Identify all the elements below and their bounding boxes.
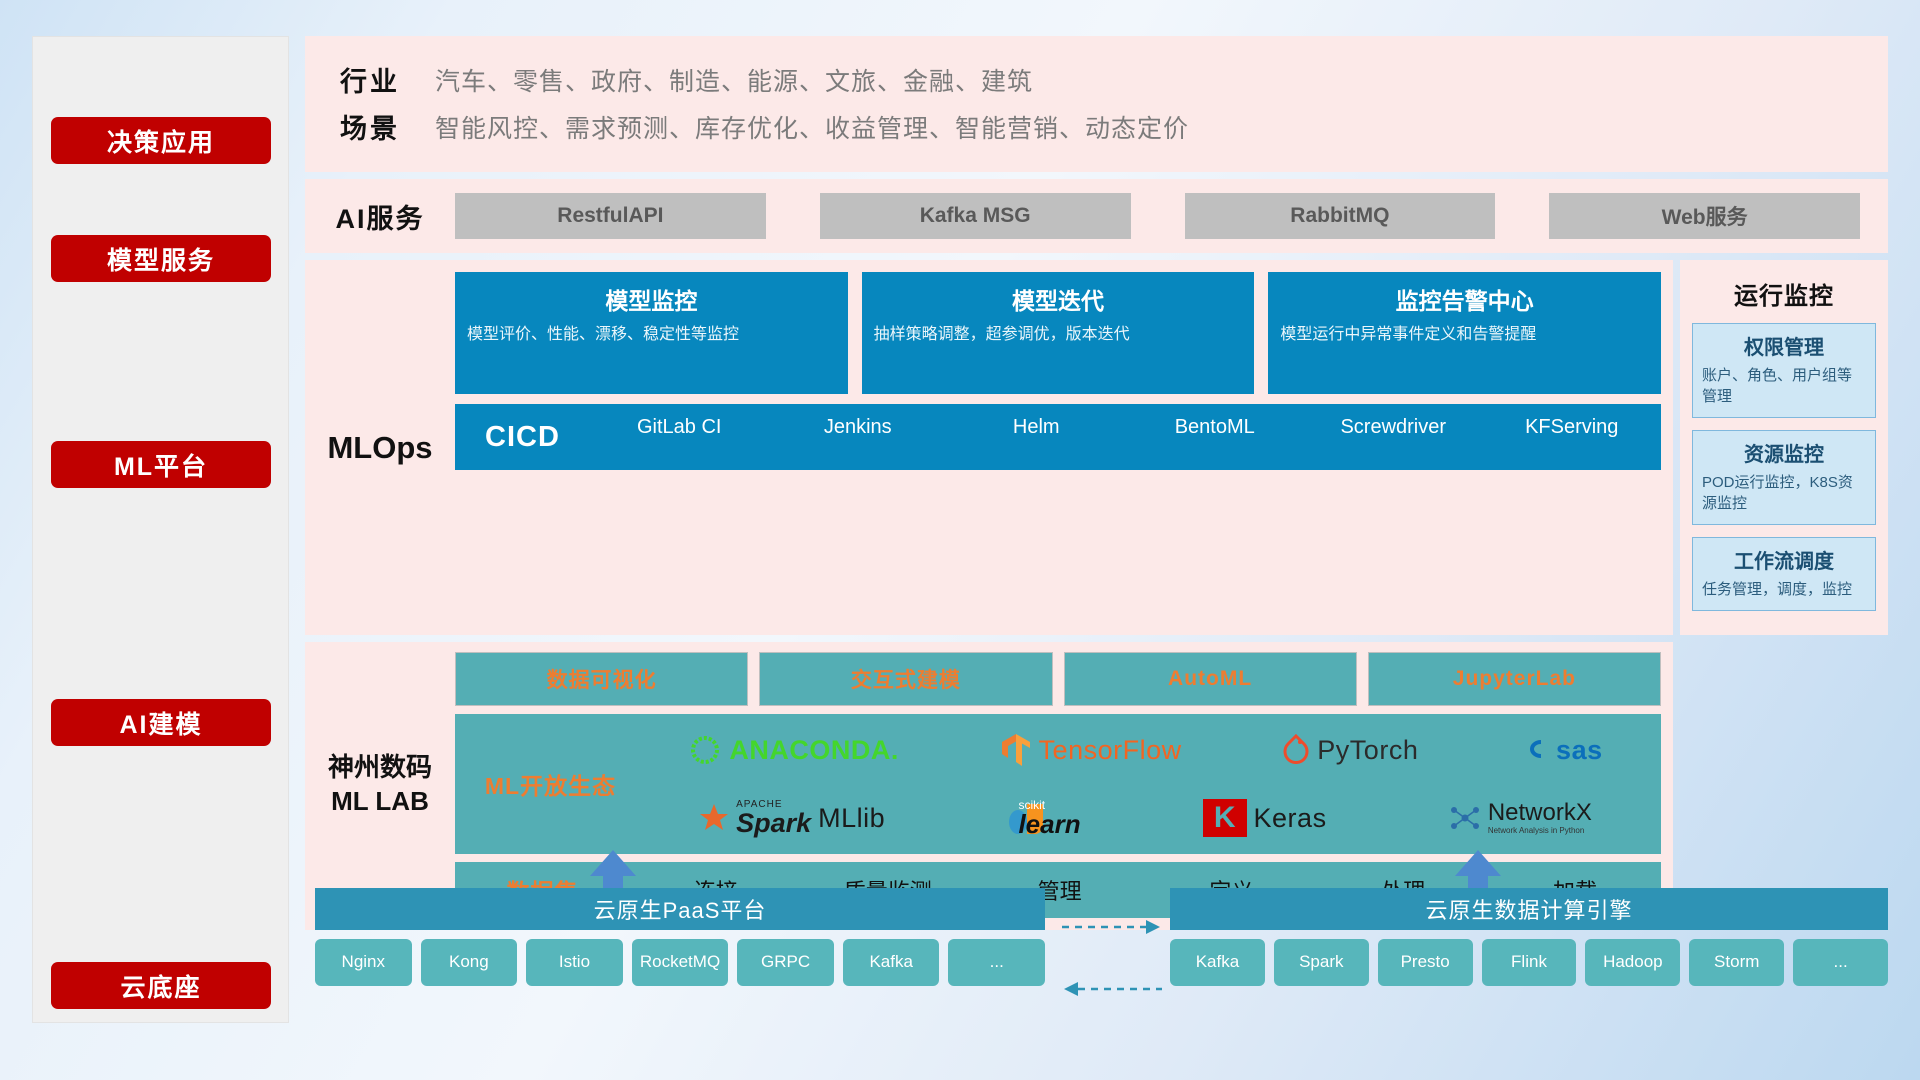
data-engine-chip-list: Kafka Spark Presto Flink Hadoop Storm ..… <box>1170 939 1888 986</box>
scenario-row: 场景 智能风控、需求预测、库存优化、收益管理、智能营销、动态定价 <box>305 107 1888 146</box>
ml-lab-tool-jupyterlab[interactable]: JupyterLab <box>1368 652 1661 706</box>
networkx-logo: NetworkX Network Analysis in Python <box>1449 800 1592 835</box>
cloud-native-data-engine-title: 云原生数据计算引擎 <box>1170 888 1888 930</box>
stage-label-text: 模型服务 <box>107 241 215 277</box>
paas-chip-nginx[interactable]: Nginx <box>315 939 412 986</box>
dashed-arrow-left-icon <box>1062 980 1162 998</box>
keras-logo: K Keras <box>1203 799 1327 837</box>
data-engine-chip-spark[interactable]: Spark <box>1274 939 1369 986</box>
data-engine-chip-storm[interactable]: Storm <box>1689 939 1784 986</box>
ml-lab-tool-data-visualization[interactable]: 数据可视化 <box>455 652 748 706</box>
paas-chip-istio[interactable]: Istio <box>526 939 623 986</box>
monitor-card-permission[interactable]: 权限管理 账户、角色、用户组等管理 <box>1692 323 1876 418</box>
scenario-value: 智能风控、需求预测、库存优化、收益管理、智能营销、动态定价 <box>435 109 1189 145</box>
mlops-card-list: 模型监控 模型评价、性能、漂移、稳定性等监控 模型迭代 抽样策略调整，超参调优，… <box>455 272 1661 394</box>
cloud-native-paas-group: 云原生PaaS平台 Nginx Kong Istio RocketMQ GRPC… <box>315 888 1045 986</box>
pytorch-icon <box>1282 733 1310 767</box>
stage-label-cloud-base[interactable]: 云底座 <box>51 962 271 1009</box>
ai-service-chip-restfulapi[interactable]: RestfulAPI <box>455 193 766 239</box>
runtime-monitoring-title: 运行监控 <box>1692 276 1876 311</box>
cicd-item-bentoml[interactable]: BentoML <box>1126 404 1305 470</box>
keras-k-icon: K <box>1203 799 1247 837</box>
stage-label-text: ML平台 <box>114 447 208 483</box>
ecosystem-logo-row-2: APACHE Spark MLlib <box>638 786 1653 850</box>
scikit-learn-wordmark: scikit learn <box>1018 799 1080 837</box>
scikit-learn-logo: scikit learn <box>1007 798 1080 838</box>
card-title: 工作流调度 <box>1702 545 1866 574</box>
ml-platform-band: MLOps 模型监控 模型评价、性能、漂移、稳定性等监控 模型迭代 抽样策略调整… <box>305 260 1888 635</box>
industry-row: 行业 汽车、零售、政府、制造、能源、文旅、金融、建筑 <box>305 60 1888 99</box>
spark-star-icon <box>699 803 729 833</box>
cicd-item-kfserving[interactable]: KFServing <box>1483 404 1662 470</box>
stage-label-decision-app[interactable]: 决策应用 <box>51 117 271 164</box>
runtime-monitoring-panel: 运行监控 权限管理 账户、角色、用户组等管理 资源监控 POD运行监控，K8S资… <box>1680 260 1888 635</box>
cicd-item-helm[interactable]: Helm <box>947 404 1126 470</box>
cicd-item-gitlab-ci[interactable]: GitLab CI <box>590 404 769 470</box>
ml-lab-tool-list: 数据可视化 交互式建模 AutoML JupyterLab <box>455 652 1661 706</box>
stage-label-ai-modeling[interactable]: AI建模 <box>51 699 271 746</box>
networkx-icon <box>1449 803 1481 833</box>
ml-open-ecosystem: ML开放生态 ANACONDA. <box>455 714 1661 854</box>
stage-label-column: 决策应用 模型服务 ML平台 AI建模 云底座 <box>32 36 289 1023</box>
networkx-logo-text: NetworkX <box>1488 800 1592 826</box>
card-desc: POD运行监控，K8S资源监控 <box>1702 472 1866 514</box>
paas-chip-kong[interactable]: Kong <box>421 939 518 986</box>
networkx-wordmark: NetworkX Network Analysis in Python <box>1488 800 1592 835</box>
mlops-card-model-iteration[interactable]: 模型迭代 抽样策略调整，超参调优，版本迭代 <box>862 272 1255 394</box>
decision-application-band: 行业 汽车、零售、政府、制造、能源、文旅、金融、建筑 场景 智能风控、需求预测、… <box>305 36 1888 172</box>
sas-icon <box>1519 735 1549 765</box>
ml-lab-label: 神州数码 ML LAB <box>305 751 455 819</box>
card-title: 模型迭代 <box>874 282 1243 316</box>
stage-label-text: 决策应用 <box>107 123 215 159</box>
anaconda-icon <box>688 733 722 767</box>
stage-label-ml-platform[interactable]: ML平台 <box>51 441 271 488</box>
ai-service-chip-web-service[interactable]: Web服务 <box>1549 193 1860 239</box>
dashed-arrow-right-icon <box>1062 918 1162 936</box>
ai-service-label: AI服务 <box>305 197 455 236</box>
scenario-label: 场景 <box>305 107 435 146</box>
tensorflow-icon <box>1000 732 1032 768</box>
card-desc: 任务管理，调度，监控 <box>1702 579 1866 600</box>
ml-open-ecosystem-label: ML开放生态 <box>463 767 638 801</box>
cicd-row: CICD GitLab CI Jenkins Helm BentoML Scre… <box>455 404 1661 470</box>
cicd-title: CICD <box>455 421 590 454</box>
keras-logo-text: Keras <box>1254 803 1327 834</box>
anaconda-logo: ANACONDA. <box>688 733 899 767</box>
ai-service-chip-rabbitmq[interactable]: RabbitMQ <box>1185 193 1496 239</box>
cloud-native-data-engine-group: 云原生数据计算引擎 Kafka Spark Presto Flink Hadoo… <box>1170 888 1888 986</box>
sas-logo: sas <box>1519 735 1603 766</box>
paas-chip-grpc[interactable]: GRPC <box>737 939 834 986</box>
data-engine-chip-presto[interactable]: Presto <box>1378 939 1473 986</box>
ml-lab-tool-automl[interactable]: AutoML <box>1064 652 1357 706</box>
tensorflow-logo: TensorFlow <box>1000 732 1182 768</box>
monitor-card-workflow[interactable]: 工作流调度 任务管理，调度，监控 <box>1692 537 1876 611</box>
ml-lab-tool-interactive-modeling[interactable]: 交互式建模 <box>759 652 1052 706</box>
ecosystem-logo-row-1: ANACONDA. TensorFlow <box>638 718 1653 782</box>
spark-mllib-logo: APACHE Spark MLlib <box>699 800 885 837</box>
data-engine-chip-kafka[interactable]: Kafka <box>1170 939 1265 986</box>
paas-chip-kafka[interactable]: Kafka <box>843 939 940 986</box>
architecture-stack: 行业 汽车、零售、政府、制造、能源、文旅、金融、建筑 场景 智能风控、需求预测、… <box>305 36 1888 930</box>
ml-lab-label-line1: 神州数码 <box>305 751 455 785</box>
card-desc: 模型运行中异常事件定义和告警提醒 <box>1280 323 1649 346</box>
card-title: 权限管理 <box>1702 331 1866 360</box>
card-title: 监控告警中心 <box>1280 282 1649 316</box>
learn-text: learn <box>1018 811 1080 837</box>
networkx-subtitle: Network Analysis in Python <box>1488 827 1592 836</box>
ecosystem-logo-grid: ANACONDA. TensorFlow <box>638 718 1653 850</box>
mlops-section: MLOps 模型监控 模型评价、性能、漂移、稳定性等监控 模型迭代 抽样策略调整… <box>305 260 1673 635</box>
mlops-label: MLOps <box>305 272 455 623</box>
stage-label-text: AI建模 <box>119 705 202 741</box>
cloud-native-paas-title: 云原生PaaS平台 <box>315 888 1045 930</box>
data-engine-chip-hadoop[interactable]: Hadoop <box>1585 939 1680 986</box>
ai-service-chip-list: RestfulAPI Kafka MSG RabbitMQ Web服务 <box>455 193 1888 239</box>
mlops-card-alert-center[interactable]: 监控告警中心 模型运行中异常事件定义和告警提醒 <box>1268 272 1661 394</box>
anaconda-logo-text: ANACONDA. <box>729 735 899 766</box>
ai-service-chip-kafka-msg[interactable]: Kafka MSG <box>820 193 1131 239</box>
ml-lab-label-line2: ML LAB <box>305 785 455 819</box>
paas-chip-rocketmq[interactable]: RocketMQ <box>632 939 729 986</box>
cicd-item-jenkins[interactable]: Jenkins <box>769 404 948 470</box>
mllib-text: MLlib <box>818 803 885 834</box>
industry-value: 汽车、零售、政府、制造、能源、文旅、金融、建筑 <box>435 62 1033 98</box>
tensorflow-logo-text: TensorFlow <box>1039 735 1182 766</box>
paas-chip-list: Nginx Kong Istio RocketMQ GRPC Kafka ... <box>315 939 1045 986</box>
stage-label-model-service[interactable]: 模型服务 <box>51 235 271 282</box>
monitor-card-resource[interactable]: 资源监控 POD运行监控，K8S资源监控 <box>1692 430 1876 525</box>
paas-chip-more[interactable]: ... <box>948 939 1045 986</box>
card-title: 资源监控 <box>1702 438 1866 467</box>
stage-label-text: 云底座 <box>120 968 201 1004</box>
sas-logo-text: sas <box>1556 735 1603 766</box>
card-title: 模型监控 <box>467 282 836 316</box>
industry-label: 行业 <box>305 60 435 99</box>
card-desc: 模型评价、性能、漂移、稳定性等监控 <box>467 323 836 346</box>
data-engine-chip-flink[interactable]: Flink <box>1482 939 1577 986</box>
spark-text: Spark <box>736 810 811 837</box>
mlops-card-model-monitoring[interactable]: 模型监控 模型评价、性能、漂移、稳定性等监控 <box>455 272 848 394</box>
card-desc: 账户、角色、用户组等管理 <box>1702 365 1866 407</box>
spark-wordmark: APACHE Spark <box>736 800 811 837</box>
ai-service-band: AI服务 RestfulAPI Kafka MSG RabbitMQ Web服务 <box>305 179 1888 253</box>
pytorch-logo: PyTorch <box>1282 733 1418 767</box>
card-desc: 抽样策略调整，超参调优，版本迭代 <box>874 323 1243 346</box>
pytorch-logo-text: PyTorch <box>1317 735 1418 766</box>
cicd-item-screwdriver[interactable]: Screwdriver <box>1304 404 1483 470</box>
data-engine-chip-more[interactable]: ... <box>1793 939 1888 986</box>
cloud-base-section: 云原生PaaS平台 Nginx Kong Istio RocketMQ GRPC… <box>305 862 1888 1022</box>
